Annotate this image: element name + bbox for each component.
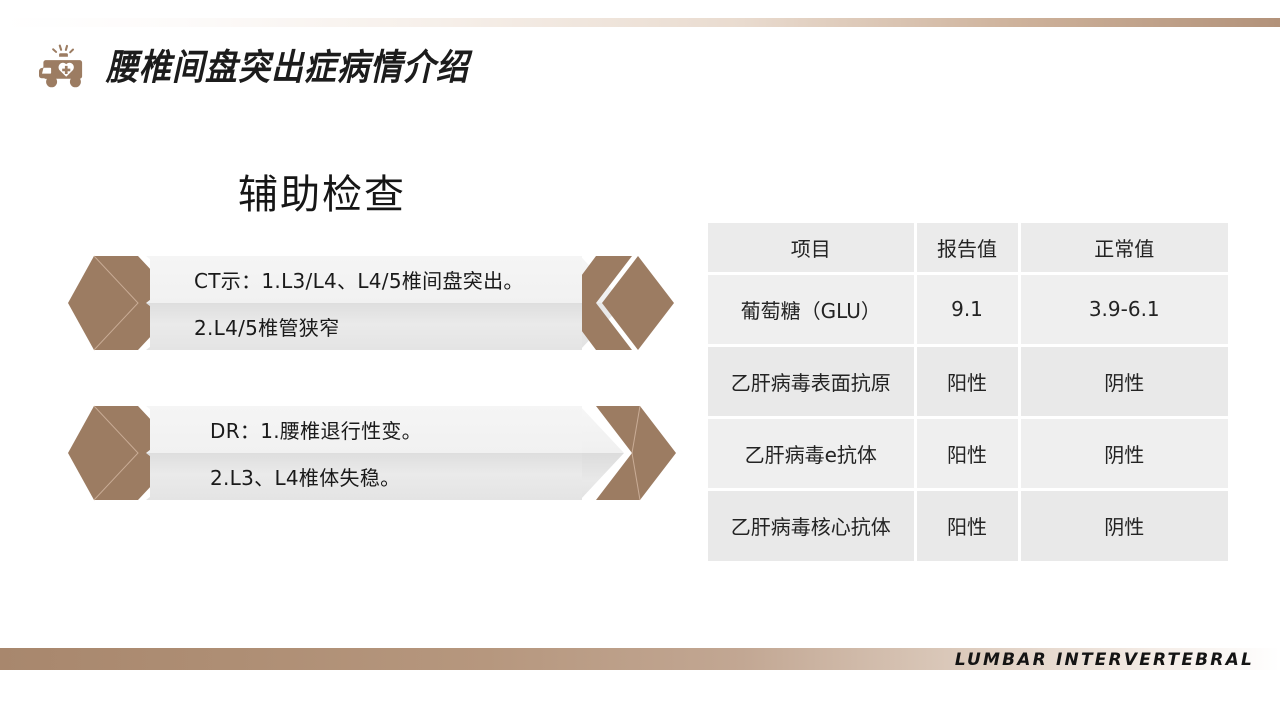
cell-item: 乙肝病毒表面抗原 [708, 345, 915, 417]
banner-ct-line-1: CT示：1.L3/L4、L4/5椎间盘突出。 [150, 256, 582, 303]
footer-caption: LUMBAR INTERVERTEBRAL [955, 650, 1254, 670]
cell-report: 9.1 [915, 273, 1019, 345]
cell-item: 葡萄糖（GLU） [708, 273, 915, 345]
table-row: 葡萄糖（GLU） 9.1 3.9-6.1 [708, 273, 1228, 345]
cell-normal: 阴性 [1019, 489, 1228, 561]
cell-report: 阳性 [915, 489, 1019, 561]
cell-report: 阳性 [915, 345, 1019, 417]
section-heading: 辅助检查 [238, 162, 406, 220]
banner-ct-text: CT示：1.L3/L4、L4/5椎间盘突出。 2.L4/5椎管狭窄 [150, 256, 582, 350]
lab-results-table: 项目 报告值 正常值 葡萄糖（GLU） 9.1 3.9-6.1 乙肝病毒表面抗原… [708, 223, 1228, 561]
top-accent-bar [0, 18, 1280, 27]
table-header-report: 报告值 [915, 223, 1019, 273]
cell-normal: 阴性 [1019, 417, 1228, 489]
cell-item: 乙肝病毒核心抗体 [708, 489, 915, 561]
banner-ct-line-2: 2.L4/5椎管狭窄 [150, 303, 582, 350]
table-header-row: 项目 报告值 正常值 [708, 223, 1228, 273]
cell-item: 乙肝病毒e抗体 [708, 417, 915, 489]
banner-dr-line-2: 2.L3、L4椎体失稳。 [150, 453, 582, 500]
table-row: 乙肝病毒e抗体 阳性 阴性 [708, 417, 1228, 489]
table-header-item: 项目 [708, 223, 915, 273]
table-row: 乙肝病毒核心抗体 阳性 阴性 [708, 489, 1228, 561]
banner-dr-text: DR：1.腰椎退行性变。 2.L3、L4椎体失稳。 [150, 406, 582, 500]
cell-normal: 阴性 [1019, 345, 1228, 417]
slide: 腰椎间盘突出症病情介绍 辅助检查 [0, 0, 1280, 720]
cell-report: 阳性 [915, 417, 1019, 489]
page-title: 腰椎间盘突出症病情介绍 [106, 49, 469, 85]
slide-header: 腰椎间盘突出症病情介绍 [36, 44, 469, 90]
banner-dr-line-1: DR：1.腰椎退行性变。 [150, 406, 582, 453]
cell-normal: 3.9-6.1 [1019, 273, 1228, 345]
banner-dr: DR：1.腰椎退行性变。 2.L3、L4椎体失稳。 [72, 403, 672, 503]
banner-ct: CT示：1.L3/L4、L4/5椎间盘突出。 2.L4/5椎管狭窄 [72, 253, 672, 353]
ambulance-icon [36, 44, 92, 90]
table-row: 乙肝病毒表面抗原 阳性 阴性 [708, 345, 1228, 417]
table-header-normal: 正常值 [1019, 223, 1228, 273]
